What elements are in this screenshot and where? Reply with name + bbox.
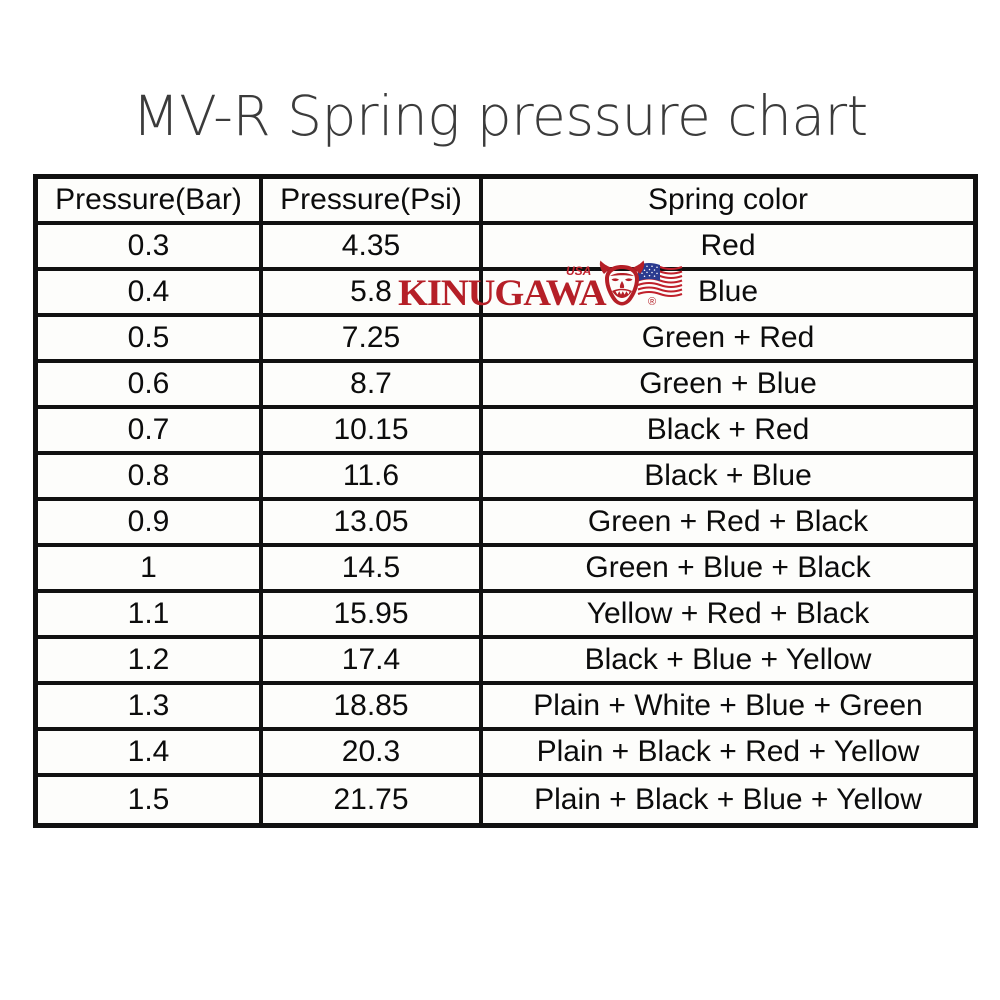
spring-pressure-table-wrapper: Pressure(Bar) Pressure(Psi) Spring color… <box>33 174 968 822</box>
cell-spring-color: Green + Red <box>483 317 973 363</box>
table-header-row: Pressure(Bar) Pressure(Psi) Spring color <box>38 179 973 225</box>
table-row: 0.4 5.8 Blue <box>38 271 973 317</box>
cell-pressure-bar: 0.8 <box>38 455 263 501</box>
cell-pressure-bar: 0.6 <box>38 363 263 409</box>
cell-pressure-psi: 5.8 <box>263 271 483 317</box>
cell-spring-color: Green + Red + Black <box>483 501 973 547</box>
cell-pressure-psi: 21.75 <box>263 777 483 823</box>
page-title: MV-R Spring pressure chart <box>0 84 1000 148</box>
table-row: 0.3 4.35 Red <box>38 225 973 271</box>
cell-pressure-psi: 11.6 <box>263 455 483 501</box>
cell-pressure-bar: 0.7 <box>38 409 263 455</box>
cell-spring-color: Black + Red <box>483 409 973 455</box>
cell-pressure-bar: 1.3 <box>38 685 263 731</box>
table-row: 1.1 15.95 Yellow + Red + Black <box>38 593 973 639</box>
table-row: 0.5 7.25 Green + Red <box>38 317 973 363</box>
table-row: 1.4 20.3 Plain + Black + Red + Yellow <box>38 731 973 777</box>
cell-pressure-psi: 13.05 <box>263 501 483 547</box>
cell-pressure-psi: 20.3 <box>263 731 483 777</box>
table-row: 0.9 13.05 Green + Red + Black <box>38 501 973 547</box>
cell-pressure-psi: 8.7 <box>263 363 483 409</box>
cell-pressure-bar: 1.5 <box>38 777 263 823</box>
cell-spring-color: Blue <box>483 271 973 317</box>
table-row: 1.5 21.75 Plain + Black + Blue + Yellow <box>38 777 973 823</box>
cell-spring-color: Red <box>483 225 973 271</box>
table-row: 1.3 18.85 Plain + White + Blue + Green <box>38 685 973 731</box>
cell-pressure-bar: 0.4 <box>38 271 263 317</box>
cell-pressure-bar: 1.2 <box>38 639 263 685</box>
cell-pressure-bar: 1.4 <box>38 731 263 777</box>
cell-pressure-bar: 0.3 <box>38 225 263 271</box>
cell-spring-color: Yellow + Red + Black <box>483 593 973 639</box>
table-row: 1 14.5 Green + Blue + Black <box>38 547 973 593</box>
cell-spring-color: Plain + White + Blue + Green <box>483 685 973 731</box>
cell-pressure-bar: 0.9 <box>38 501 263 547</box>
table-row: 0.8 11.6 Black + Blue <box>38 455 973 501</box>
cell-spring-color: Green + Blue + Black <box>483 547 973 593</box>
cell-pressure-psi: 14.5 <box>263 547 483 593</box>
table-row: 0.6 8.7 Green + Blue <box>38 363 973 409</box>
document-page: MV-R Spring pressure chart Pressure(Bar)… <box>0 0 1000 1000</box>
cell-spring-color: Plain + Black + Red + Yellow <box>483 731 973 777</box>
cell-pressure-psi: 18.85 <box>263 685 483 731</box>
cell-spring-color: Black + Blue <box>483 455 973 501</box>
cell-pressure-psi: 10.15 <box>263 409 483 455</box>
table-row: 0.7 10.15 Black + Red <box>38 409 973 455</box>
table-row: 1.2 17.4 Black + Blue + Yellow <box>38 639 973 685</box>
cell-spring-color: Plain + Black + Blue + Yellow <box>483 777 973 823</box>
cell-pressure-psi: 4.35 <box>263 225 483 271</box>
cell-pressure-bar: 1 <box>38 547 263 593</box>
cell-spring-color: Green + Blue <box>483 363 973 409</box>
spring-pressure-table: Pressure(Bar) Pressure(Psi) Spring color… <box>33 174 978 828</box>
cell-pressure-psi: 17.4 <box>263 639 483 685</box>
cell-pressure-psi: 15.95 <box>263 593 483 639</box>
column-header-pressure-psi: Pressure(Psi) <box>263 179 483 225</box>
column-header-spring-color: Spring color <box>483 179 973 225</box>
cell-pressure-psi: 7.25 <box>263 317 483 363</box>
cell-pressure-bar: 0.5 <box>38 317 263 363</box>
cell-spring-color: Black + Blue + Yellow <box>483 639 973 685</box>
cell-pressure-bar: 1.1 <box>38 593 263 639</box>
column-header-pressure-bar: Pressure(Bar) <box>38 179 263 225</box>
